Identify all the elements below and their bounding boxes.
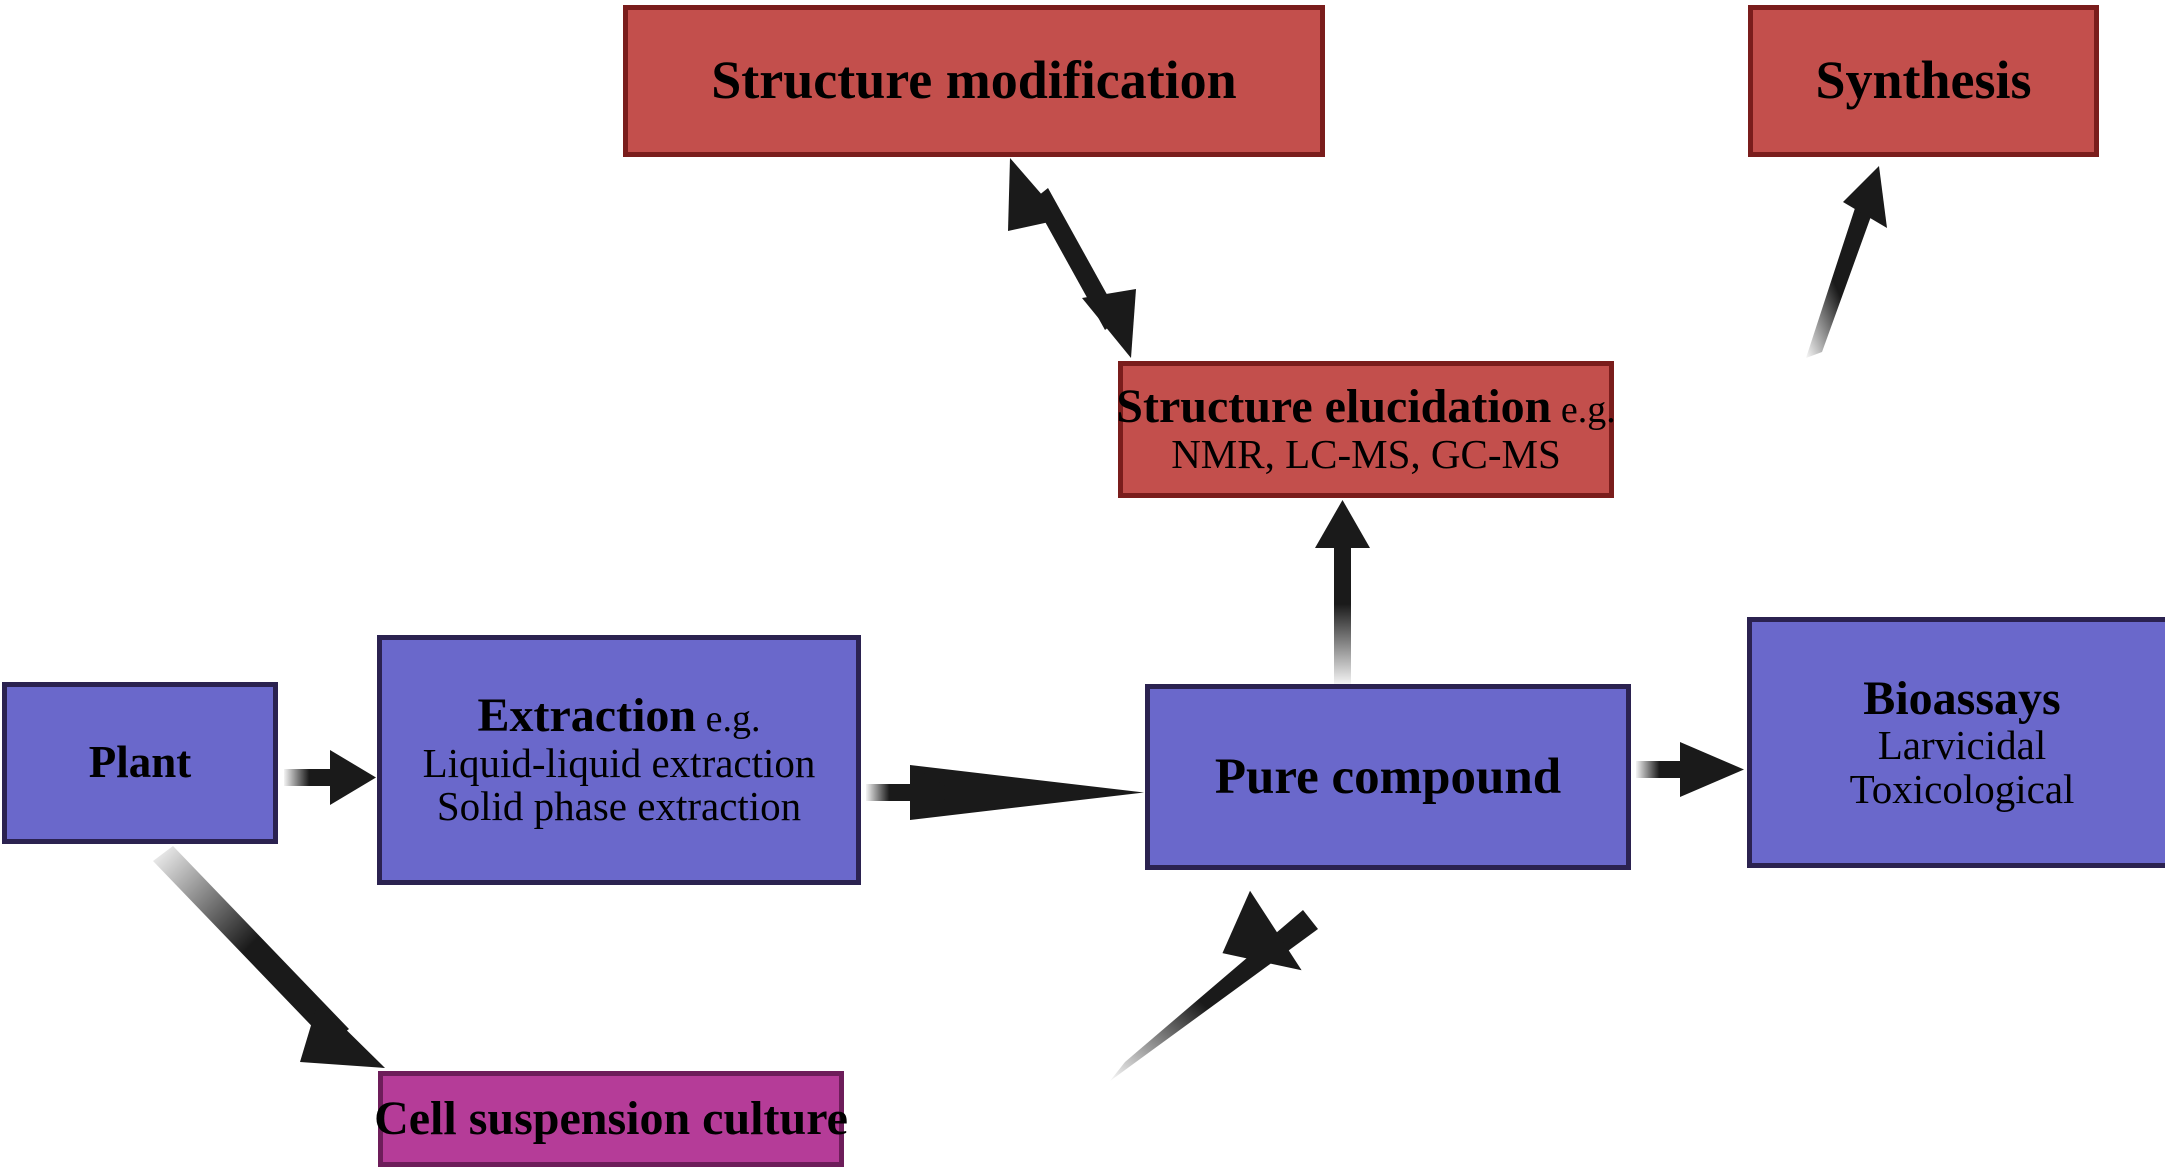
node-extraction-titleline: Extraction e.g. bbox=[478, 691, 761, 742]
arrow-layer bbox=[0, 0, 2165, 1173]
node-structure-elucidation-eg: e.g. bbox=[1551, 389, 1615, 431]
arrow-cell-suspension-to-pure-compound bbox=[1110, 885, 1318, 1081]
node-cell-suspension-culture[interactable]: Cell suspension culture bbox=[378, 1071, 844, 1167]
node-plant-title: Plant bbox=[89, 739, 192, 787]
arrow-pure-compound-to-bioassays bbox=[1636, 742, 1744, 797]
node-extraction[interactable]: Extraction e.g. Liquid-liquid extraction… bbox=[377, 635, 861, 885]
node-bioassays-title: Bioassays bbox=[1863, 674, 2060, 725]
node-bioassays-sub2: Toxicological bbox=[1850, 768, 2075, 811]
arrow-plant-to-cell-suspension bbox=[153, 846, 385, 1068]
arrow-structure-elucidation-to-structure-modification bbox=[1008, 158, 1136, 358]
node-synthesis[interactable]: Synthesis bbox=[1748, 5, 2099, 157]
node-extraction-sub2: Solid phase extraction bbox=[437, 785, 801, 828]
node-plant[interactable]: Plant bbox=[2, 682, 278, 844]
arrow-pure-compound-to-structure-elucidation bbox=[1315, 500, 1370, 684]
arrow-plant-to-extraction bbox=[284, 750, 376, 805]
node-extraction-eg: e.g. bbox=[696, 698, 760, 740]
node-bioassays-sub1: Larvicidal bbox=[1878, 724, 2046, 767]
node-structure-elucidation[interactable]: Structure elucidation e.g. NMR, LC-MS, G… bbox=[1118, 361, 1614, 498]
node-structure-elucidation-sub1: NMR, LC-MS, GC-MS bbox=[1171, 433, 1561, 476]
node-cell-suspension-culture-title: Cell suspension culture bbox=[374, 1094, 848, 1145]
node-bioassays[interactable]: Bioassays Larvicidal Toxicological bbox=[1747, 617, 2165, 868]
arrow-structure-elucidation-to-synthesis bbox=[1806, 166, 1887, 358]
node-pure-compound[interactable]: Pure compound bbox=[1145, 684, 1631, 870]
node-structure-elucidation-title: Structure elucidation bbox=[1116, 380, 1551, 433]
node-extraction-sub1: Liquid-liquid extraction bbox=[423, 742, 816, 785]
node-synthesis-title: Synthesis bbox=[1815, 52, 2031, 109]
node-structure-modification-title: Structure modification bbox=[711, 52, 1236, 109]
node-structure-modification[interactable]: Structure modification bbox=[623, 5, 1325, 157]
arrow-extraction-to-pure-compound bbox=[866, 765, 1144, 820]
node-extraction-title: Extraction bbox=[478, 689, 697, 742]
diagram-canvas: Structure modification Synthesis Structu… bbox=[0, 0, 2165, 1173]
node-structure-elucidation-titleline: Structure elucidation e.g. bbox=[1116, 382, 1615, 433]
node-pure-compound-title: Pure compound bbox=[1215, 750, 1561, 804]
